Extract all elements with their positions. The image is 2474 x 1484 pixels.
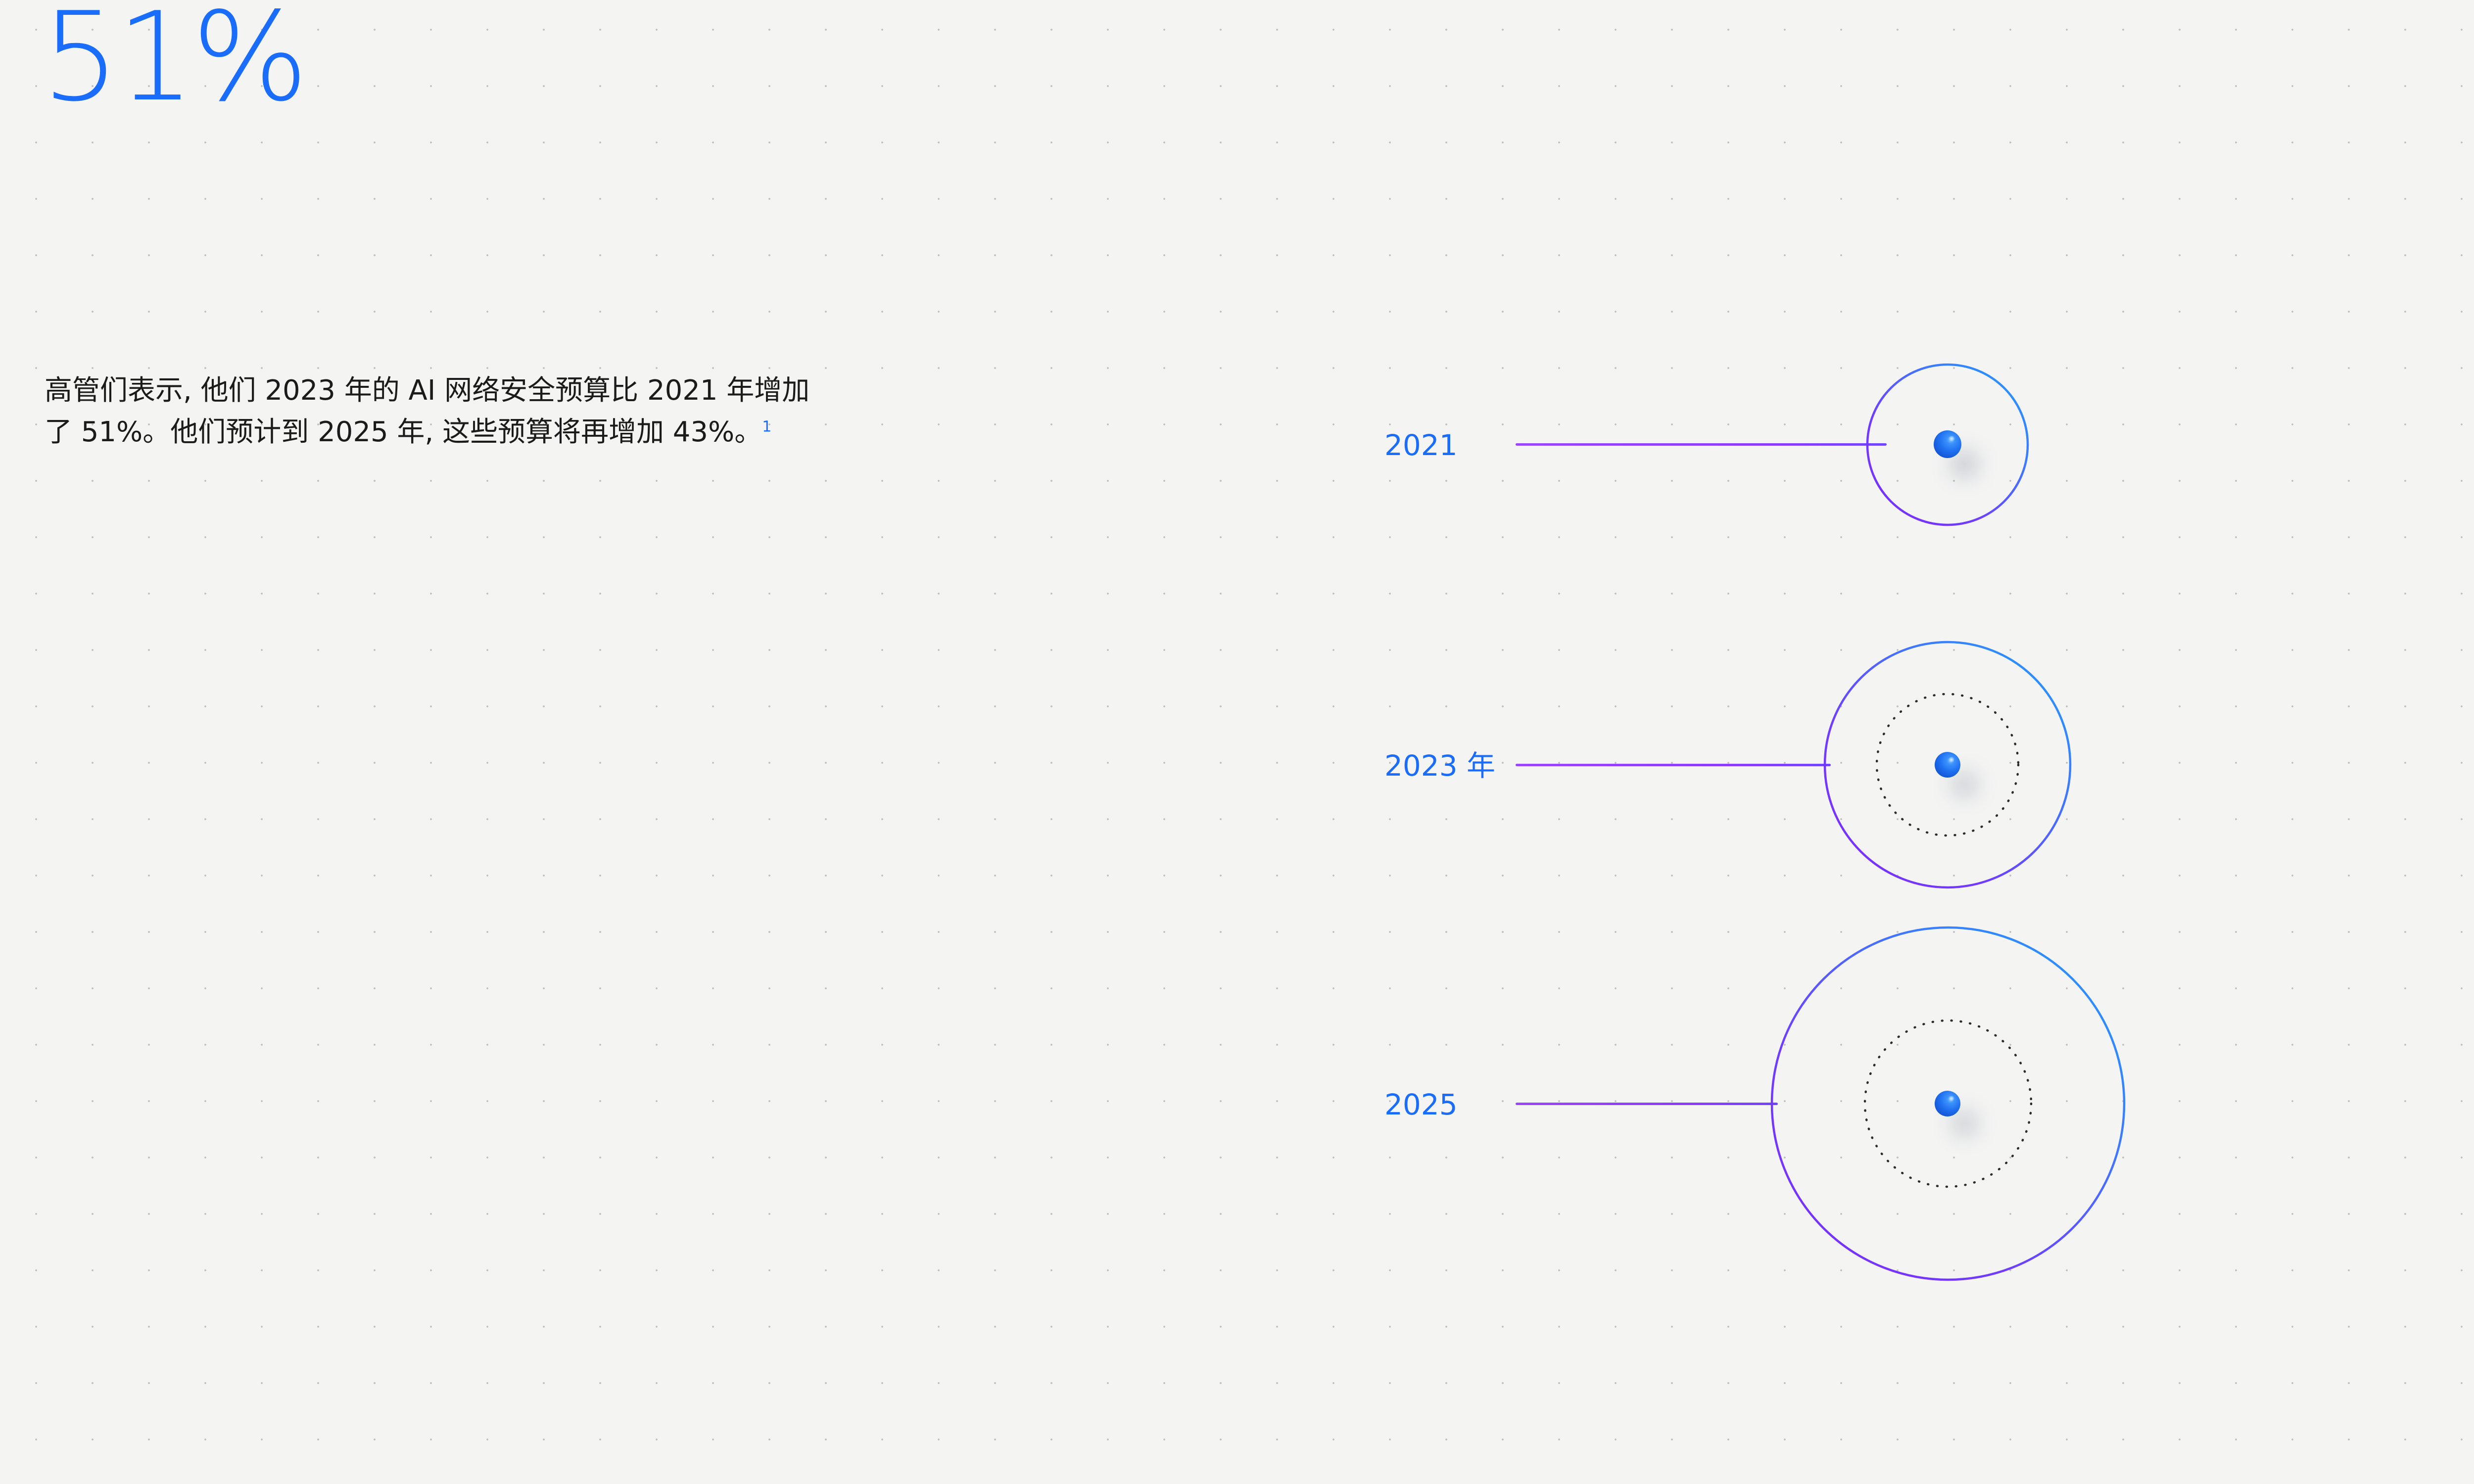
bubble-label-2025: 2025 bbox=[1384, 1090, 1458, 1119]
bubble-diagram: 2021 2023 bbox=[0, 0, 2474, 1484]
connector-line-2021 bbox=[1516, 443, 1887, 446]
bubble-label-2021: 2021 bbox=[1384, 431, 1458, 460]
bubble-label-2023: 2023 年 bbox=[1384, 751, 1495, 780]
connector-line-2025 bbox=[1516, 1103, 1778, 1105]
bubble-center-sphere-2025 bbox=[1935, 1091, 1960, 1116]
slide-canvas: 51% 高管们表示, 他们 2023 年的 AI 网络安全预算比 2021 年增… bbox=[0, 0, 2474, 1484]
bubble-center-sphere-2023 bbox=[1935, 752, 1960, 778]
bubble-center-sphere-2021 bbox=[1934, 430, 1961, 458]
bottom-navigation-bar: |‹ ‹ 上一章 下一章 › 8 bbox=[0, 1420, 2474, 1484]
connector-line-2023 bbox=[1516, 764, 1831, 766]
